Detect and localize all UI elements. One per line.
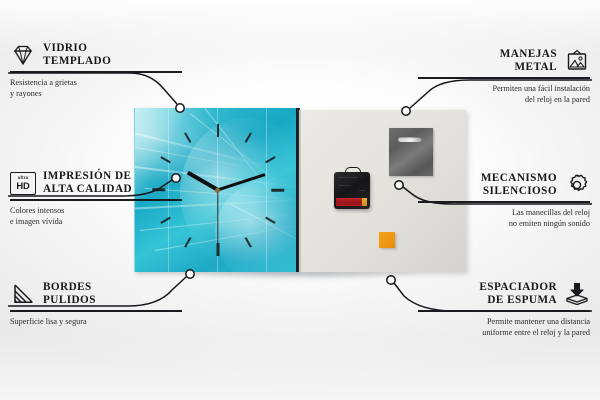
glass-seam: [266, 108, 267, 272]
product-image-group: [134, 108, 466, 275]
feature-description: Las manecillas del reloj no emiten ningú…: [418, 207, 590, 230]
feature-title: MECANISMO SILENCIOSO: [481, 172, 557, 198]
clock-marker: [217, 124, 220, 137]
polished-edges-icon: [10, 281, 36, 307]
feature-description: Permiten una fácil instalación del reloj…: [418, 83, 590, 106]
feature-divider: [418, 77, 590, 78]
feature-header: MANEJAS METAL: [418, 48, 590, 74]
mechanism-detail: [359, 190, 365, 191]
hd-main-label: HD: [16, 181, 29, 190]
feature-header: BORDES PULIDOS: [10, 281, 182, 307]
feature-title: BORDES PULIDOS: [43, 281, 96, 307]
feature-divider: [10, 71, 182, 72]
feature-description: Permite mantener una distancia uniforme …: [418, 316, 590, 339]
feature-divider: [10, 310, 182, 311]
feature-divider: [10, 199, 182, 200]
back-panel-edge: [299, 110, 301, 272]
feature-description: Colores intensos e imagen vívida: [10, 205, 182, 228]
clock-second-hand: [217, 190, 218, 246]
hanger-slot: [398, 137, 422, 142]
clock-marker: [184, 237, 191, 248]
feature-header: VIDRIO TEMPLADO: [10, 42, 182, 68]
gear-icon: [564, 172, 590, 198]
battery-terminal: [362, 198, 367, 206]
feature-divider: [418, 310, 590, 311]
feature-manejas-metal: MANEJAS METAL Permiten una fácil instala…: [418, 48, 590, 105]
feature-mecanismo-silencioso: MECANISMO SILENCIOSO Las manecillas del …: [418, 172, 590, 229]
feature-description: Superficie lisa y segura: [10, 316, 182, 327]
feature-vidrio-templado: VIDRIO TEMPLADO Resistencia a grietas y …: [10, 42, 182, 99]
feature-title: MANEJAS METAL: [500, 48, 557, 74]
feature-title: IMPRESIÓN DE ALTA CALIDAD: [43, 170, 132, 196]
clock-marker: [271, 189, 284, 192]
feature-description: Resistencia a grietas y rayones: [10, 77, 182, 100]
diamond-icon: [10, 42, 36, 68]
clock-mechanism: [334, 172, 370, 209]
feature-divider: [418, 201, 590, 202]
mechanism-detail: [338, 177, 358, 178]
feature-title: ESPACIADOR DE ESPUMA: [479, 281, 557, 307]
foam-spacer-arrow-icon: [564, 281, 590, 307]
metal-hanger-plate: [389, 128, 433, 176]
battery: [336, 198, 367, 206]
infographic-canvas: VIDRIO TEMPLADO Resistencia a grietas y …: [0, 0, 600, 400]
feature-espaciador-espuma: ESPACIADOR DE ESPUMA Permite mantener un…: [418, 281, 590, 338]
feature-bordes-pulidos: BORDES PULIDOS Superficie lisa y segura: [10, 281, 182, 327]
feature-impresion-alta-calidad: ultra HD IMPRESIÓN DE ALTA CALIDAD Color…: [10, 170, 182, 227]
feature-header: ESPACIADOR DE ESPUMA: [418, 281, 590, 307]
feature-title: VIDRIO TEMPLADO: [43, 42, 111, 68]
picture-frame-hanger-icon: [564, 48, 590, 74]
clock-center-cap: [215, 188, 220, 193]
feature-header: MECANISMO SILENCIOSO: [418, 172, 590, 198]
mechanism-hook: [345, 167, 361, 176]
ultra-hd-icon: ultra HD: [10, 170, 36, 196]
foam-spacer: [379, 232, 395, 248]
feature-header: ultra HD IMPRESIÓN DE ALTA CALIDAD: [10, 170, 182, 196]
hd-badge: ultra HD: [10, 172, 36, 195]
mechanism-detail: [338, 185, 351, 186]
